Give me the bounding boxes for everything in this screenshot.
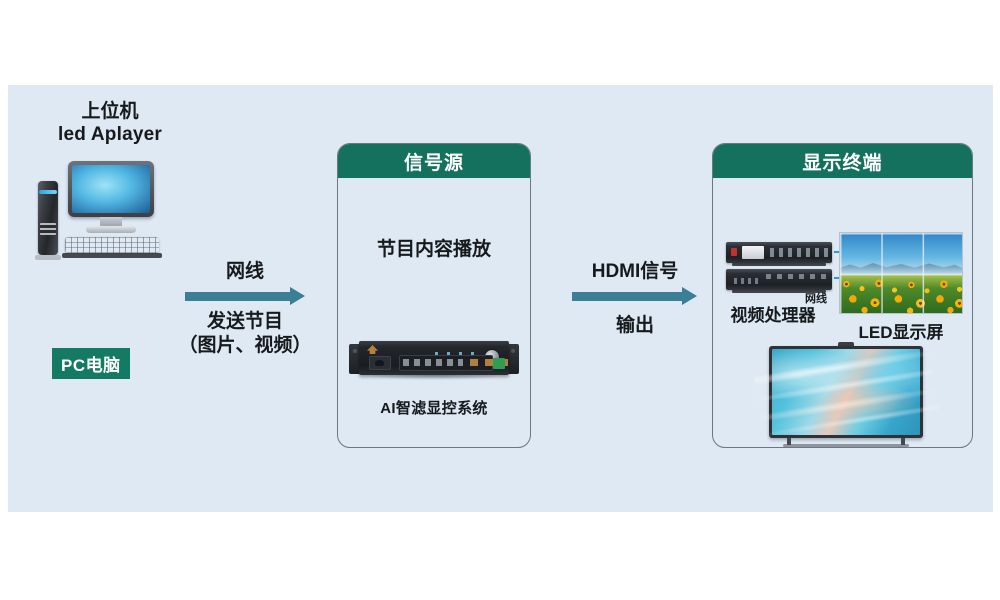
led-video-wall-image (839, 232, 963, 314)
signal-source-device-caption: AI智滤显控系统 (338, 397, 530, 418)
rack-terminal-block (493, 358, 505, 369)
panel-signal-source: 信号源 节目内容播放 AI智滤显控系统 (337, 143, 531, 448)
video-processor-unit-1 (726, 242, 832, 263)
panel-signal-source-body: 节目内容播放 AI智滤显控系统 (338, 178, 530, 447)
pc-tower-icon (38, 181, 58, 255)
panel-signal-source-header: 信号源 (338, 144, 530, 178)
lcd-caption: LCD液晶显示器 (749, 442, 945, 448)
rack-port-bank (399, 355, 493, 371)
keyboard-icon (65, 237, 159, 253)
keyboard-shadow (62, 253, 162, 258)
host-title: 上位机 led Aplayer (20, 100, 200, 146)
panel-display-terminal-header: 显示终端 (713, 144, 972, 178)
arrow2-label-below: 输出 (569, 310, 701, 337)
processor-port-row (766, 274, 828, 279)
video-processor-caption: 视频处理器 (717, 301, 829, 326)
desktop-computer-icon (32, 155, 162, 265)
rack-chassis (359, 341, 509, 375)
lcd-wallpaper-image (772, 349, 920, 435)
video-processor-unit-2 (726, 269, 832, 290)
video-processor-icon (726, 242, 834, 294)
arrow1-label-below: 发送节目 （图片、视频） (147, 310, 343, 358)
arrow1-label-below-line2: （图片、视频） (147, 334, 343, 358)
panel-display-terminal: 显示终端 网线 视频处理器 (712, 143, 973, 448)
host-title-line1: 上位机 (20, 100, 200, 123)
panel-display-terminal-body: 网线 视频处理器 LED显示屏 (713, 178, 972, 447)
arrow-shaft (572, 292, 682, 301)
arrow2-label-above: HDMI信号 (569, 256, 701, 283)
arrow-head (682, 287, 697, 305)
wallpaper-swirl (772, 349, 920, 435)
rack-shadow (363, 375, 505, 380)
rack-logo-icon (367, 345, 378, 354)
processor-port-row (770, 248, 828, 257)
arrow1-label-below-line1: 发送节目 (147, 310, 343, 334)
monitor-base (86, 226, 136, 233)
pc-tower-base (35, 255, 61, 260)
lcd-monitor-icon (769, 346, 923, 438)
processor-base (732, 263, 826, 266)
arrow-head (290, 287, 305, 305)
arrow1-label-above: 网线 (182, 256, 308, 283)
signal-source-body-text: 节目内容播放 (338, 234, 530, 261)
processor-display-panel (742, 246, 764, 259)
lcd-bezel (769, 346, 923, 438)
rack-power-socket (369, 356, 391, 370)
host-title-line2: led Aplayer (20, 123, 200, 146)
pc-badge: PC电脑 (52, 348, 130, 379)
arrow-shaft (185, 292, 290, 301)
video-wall-bezel-grid (840, 233, 962, 313)
diagram-canvas: 上位机 led Aplayer PC电脑 网线 发送节目 （图片、视频） 信号源… (8, 85, 993, 512)
rack-controller-icon (349, 341, 519, 379)
pc-monitor-icon (68, 161, 154, 217)
